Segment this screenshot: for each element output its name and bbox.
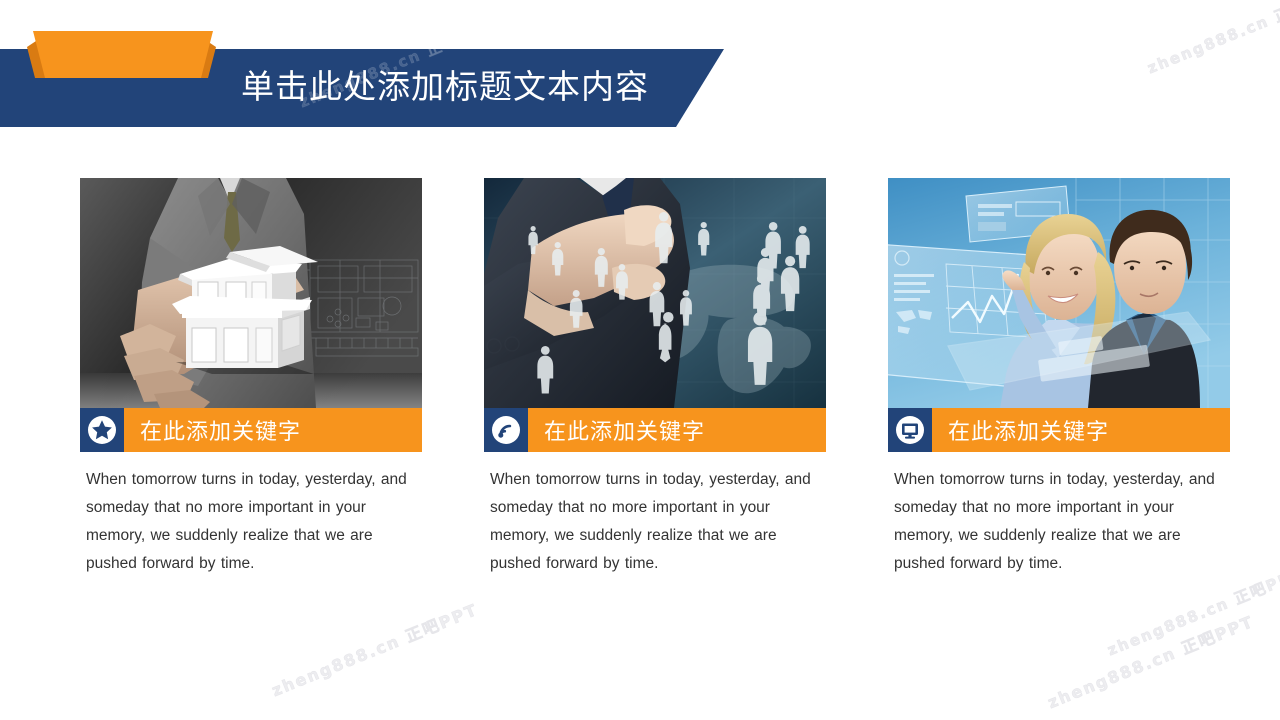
slide-canvas: 单击此处添加标题文本内容 <box>0 0 1280 720</box>
card-body-text: When tomorrow turns in today, yesterday,… <box>80 466 410 578</box>
card-body-text: When tomorrow turns in today, yesterday,… <box>888 466 1218 578</box>
slide-header: 单击此处添加标题文本内容 <box>0 0 1280 160</box>
content-card: 在此添加关键字 When tomorrow turns in today, ye… <box>484 178 826 578</box>
content-card: 在此添加关键字 When tomorrow turns in today, ye… <box>80 178 422 578</box>
card-label: 在此添加关键字 <box>948 414 1109 446</box>
page-title: 单击此处添加标题文本内容 <box>241 62 711 112</box>
card-label: 在此添加关键字 <box>544 414 705 446</box>
card-label-text-box: 在此添加关键字 <box>528 408 826 452</box>
card-row: 在此添加关键字 When tomorrow turns in today, ye… <box>0 178 1280 598</box>
card-label-text-box: 在此添加关键字 <box>124 408 422 452</box>
watermark: zheng888.cn 正吧PPT <box>1044 608 1258 713</box>
card-label-text-box: 在此添加关键字 <box>932 408 1230 452</box>
header-tab-shadow-left <box>27 31 51 78</box>
card-body-text: When tomorrow turns in today, yesterday,… <box>484 466 814 578</box>
card-label: 在此添加关键字 <box>140 414 301 446</box>
header-banner-blue <box>0 49 724 127</box>
rss-signal-icon <box>484 408 528 452</box>
card-photo <box>80 178 422 408</box>
card-label-bar: 在此添加关键字 <box>484 408 826 452</box>
watermark: zheng888.cn 正吧PPT <box>296 14 498 112</box>
star-icon <box>80 408 124 452</box>
content-card: 在此添加关键字 When tomorrow turns in today, ye… <box>888 178 1230 578</box>
watermark: zheng888.cn 正吧PPT <box>268 596 482 701</box>
watermark: zheng888.cn 正吧PPT <box>1144 0 1280 78</box>
card-photo <box>888 178 1230 408</box>
card-label-bar: 在此添加关键字 <box>80 408 422 452</box>
monitor-icon <box>888 408 932 452</box>
header-tab-shadow-right <box>192 31 218 78</box>
card-label-bar: 在此添加关键字 <box>888 408 1230 452</box>
card-photo <box>484 178 826 408</box>
header-tab-orange <box>33 31 213 78</box>
